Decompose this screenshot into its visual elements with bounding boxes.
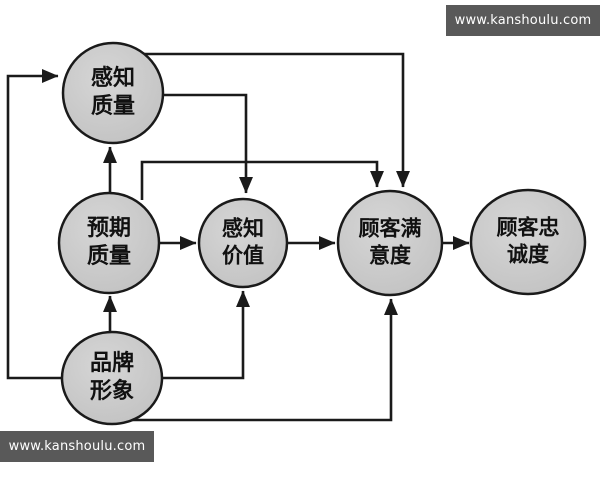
watermark-top: www.kanshoulu.com	[446, 5, 600, 36]
node-shape-brand-image	[62, 332, 162, 424]
nodes-layer: 感知质量预期质量感知价值顾客满意度顾客忠诚度品牌形象	[59, 43, 585, 424]
flow-diagram: 感知质量预期质量感知价值顾客满意度顾客忠诚度品牌形象	[0, 0, 600, 480]
edge-perceived-quality-to-customer-satisfaction	[140, 54, 403, 187]
edge-brand-image-to-customer-satisfaction	[130, 299, 391, 420]
node-label-perceived-value: 感知	[222, 217, 264, 241]
node-label-customer-loyalty: 顾客忠	[497, 216, 560, 240]
node-label-perceived-quality: 质量	[91, 94, 135, 119]
diagram-canvas: 感知质量预期质量感知价值顾客满意度顾客忠诚度品牌形象 www.kanshoulu…	[0, 0, 600, 480]
node-label-expected-quality: 预期	[87, 216, 131, 241]
node-expected-quality[interactable]: 预期质量	[59, 193, 159, 293]
watermark-bottom: www.kanshoulu.com	[0, 431, 154, 462]
node-perceived-value[interactable]: 感知价值	[199, 199, 287, 287]
node-label-customer-satisfaction: 顾客满	[359, 217, 422, 241]
node-perceived-quality[interactable]: 感知质量	[63, 43, 163, 143]
node-customer-satisfaction[interactable]: 顾客满意度	[338, 191, 442, 295]
node-brand-image[interactable]: 品牌形象	[62, 332, 162, 424]
node-label-perceived-quality: 感知	[91, 65, 135, 91]
node-label-brand-image: 形象	[90, 378, 134, 404]
node-shape-expected-quality	[59, 193, 159, 293]
edge-brand-image-to-perceived-value	[158, 291, 243, 378]
node-label-customer-satisfaction: 意度	[369, 243, 411, 267]
node-label-customer-loyalty: 诚度	[507, 242, 549, 266]
edge-perceived-quality-to-perceived-value	[151, 95, 246, 193]
edge-expected-quality-to-customer-satisfaction	[142, 162, 377, 200]
node-label-expected-quality: 质量	[87, 244, 131, 269]
edge-brand-image-to-perceived-quality	[8, 76, 62, 378]
node-customer-loyalty[interactable]: 顾客忠诚度	[471, 190, 585, 294]
node-label-perceived-value: 价值	[222, 243, 264, 267]
node-shape-perceived-quality	[63, 43, 163, 143]
node-label-brand-image: 品牌	[90, 350, 134, 376]
